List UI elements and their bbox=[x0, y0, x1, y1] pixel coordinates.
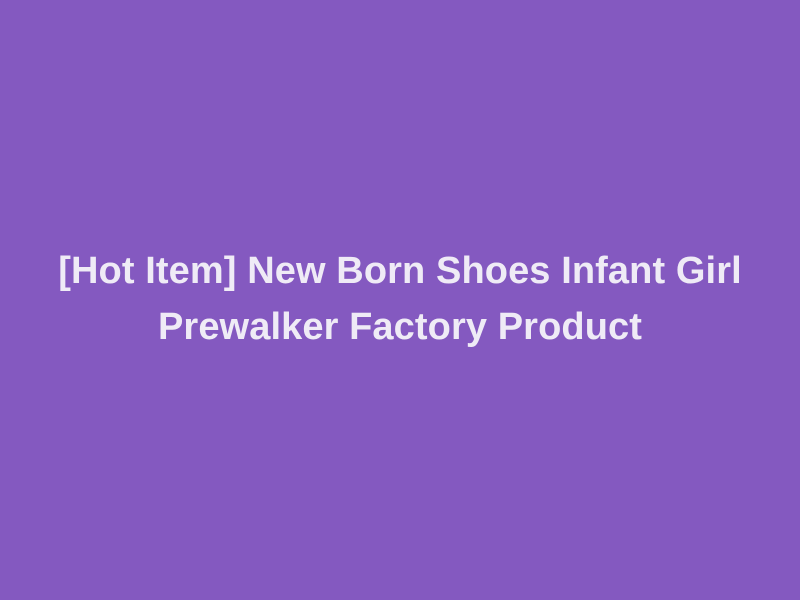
page-title-line-2: Prewalker Factory Product bbox=[40, 299, 760, 355]
placeholder-card: [Hot Item] New Born Shoes Infant Girl Pr… bbox=[0, 0, 800, 600]
page-title: [Hot Item] New Born Shoes Infant Girl Pr… bbox=[40, 243, 760, 355]
page-title-line-1: [Hot Item] New Born Shoes Infant Girl bbox=[40, 243, 760, 299]
